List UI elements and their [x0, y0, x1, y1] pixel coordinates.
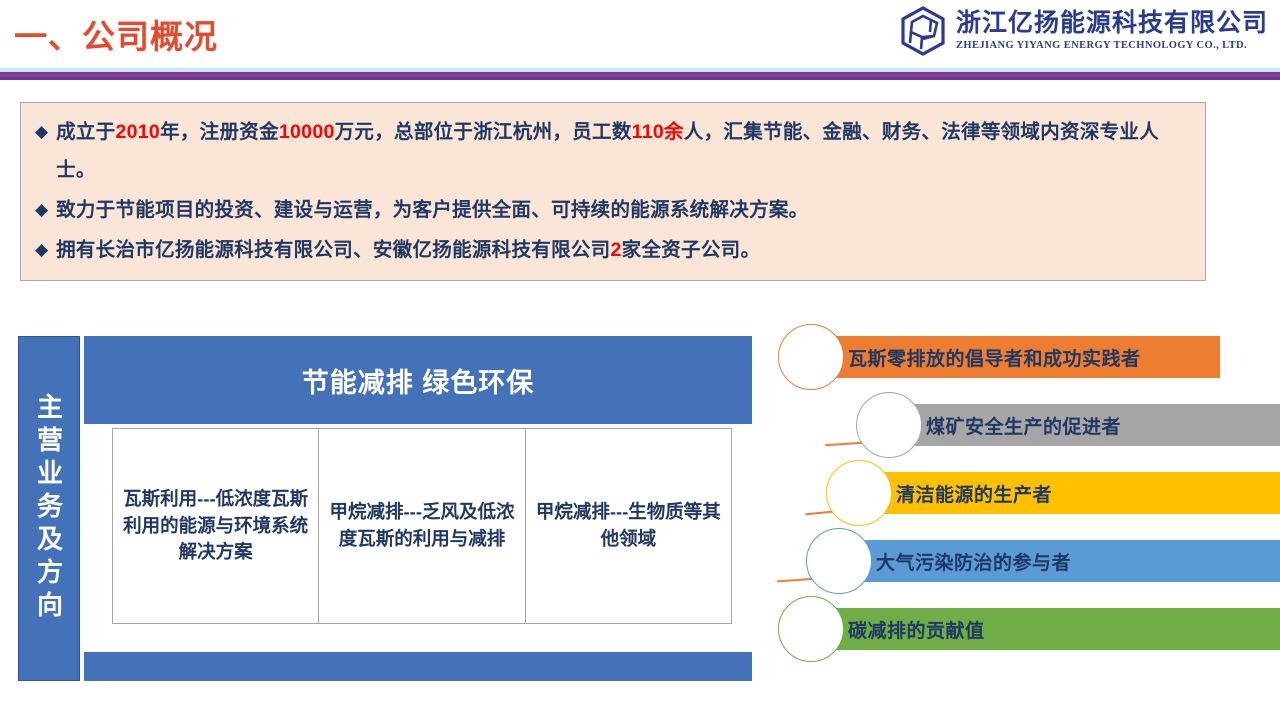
value-bar-circle-icon	[806, 528, 872, 594]
business-header-banner: 节能减排 绿色环保	[84, 336, 752, 424]
company-name-en: ZHEJIANG YIYANG ENERGY TECHNOLOGY CO., L…	[956, 41, 1268, 52]
bullet-segment: 万元，总部位于浙江杭州，员工数	[335, 121, 632, 143]
value-bar-row[interactable]: 清洁能源的生产者	[808, 472, 1280, 514]
bullet-segment: 年，注册资金	[160, 121, 279, 143]
company-name-cn: 浙江亿扬能源科技有限公司	[956, 11, 1268, 36]
diamond-bullet-icon: ◆	[35, 113, 48, 151]
hexagon-cube-logo-icon	[900, 6, 946, 56]
value-bar-circle-icon	[856, 392, 922, 458]
business-table-cell: 瓦斯利用---低浓度瓦斯利用的能源与环境系统解决方案	[113, 429, 319, 623]
diamond-bullet-icon: ◆	[35, 231, 48, 269]
overview-bullet: ◆成立于2010年，注册资金10000万元，总部位于浙江杭州，员工数110余人，…	[35, 113, 1191, 189]
highlighted-value: 110余	[632, 121, 684, 143]
slide-root: 一、公司概况 浙江亿扬能源科技有限公司 ZHEJIANG YIYANG ENER…	[0, 0, 1280, 720]
overview-bullet-text: 成立于2010年，注册资金10000万元，总部位于浙江杭州，员工数110余人，汇…	[56, 113, 1191, 189]
value-bar-label: 碳减排的贡献值	[848, 608, 985, 650]
business-main: 节能减排 绿色环保 瓦斯利用---低浓度瓦斯利用的能源与环境系统解决方案甲烷减排…	[84, 336, 752, 688]
company-overview-box: ◆成立于2010年，注册资金10000万元，总部位于浙江杭州，员工数110余人，…	[20, 102, 1206, 281]
value-bar-circle-icon	[778, 596, 844, 662]
highlighted-value: 2010	[115, 121, 160, 143]
value-bar-row[interactable]: 瓦斯零排放的倡导者和成功实践者	[760, 336, 1220, 378]
value-bar-label: 瓦斯零排放的倡导者和成功实践者	[848, 336, 1141, 378]
value-bar-label: 煤矿安全生产的促进者	[926, 404, 1121, 446]
value-bar-row[interactable]: 大气污染防治的参与者	[788, 540, 1280, 582]
highlighted-value: 10000	[279, 121, 335, 143]
business-footer-bar	[84, 652, 752, 681]
bullet-segment: 拥有长治市亿扬能源科技有限公司、安徽亿扬能源科技有限公司	[56, 239, 610, 261]
value-proposition-list: 瓦斯零排放的倡导者和成功实践者煤矿安全生产的促进者清洁能源的生产者大气污染防治的…	[760, 336, 1270, 696]
divider-line-4	[0, 77, 1280, 80]
business-table-cell: 甲烷减排---乏风及低浓度瓦斯的利用与减排	[319, 429, 525, 623]
overview-bullet: ◆拥有长治市亿扬能源科技有限公司、安徽亿扬能源科技有限公司2家全资子公司。	[35, 231, 1191, 269]
value-bar-row[interactable]: 煤矿安全生产的促进者	[838, 404, 1280, 446]
value-bar-label: 清洁能源的生产者	[896, 472, 1052, 514]
business-table-cell: 甲烷减排---生物质等其他领域	[526, 429, 731, 623]
company-logo: 浙江亿扬能源科技有限公司 ZHEJIANG YIYANG ENERGY TECH…	[900, 6, 1268, 56]
bullet-segment: 致力于节能项目的投资、建设与运营，为客户提供全面、可持续的能源系统解决方案。	[56, 199, 808, 221]
value-bar-circle-icon	[778, 324, 844, 390]
business-table: 瓦斯利用---低浓度瓦斯利用的能源与环境系统解决方案甲烷减排---乏风及低浓度瓦…	[112, 428, 732, 624]
overview-bullet-text: 致力于节能项目的投资、建设与运营，为客户提供全面、可持续的能源系统解决方案。	[56, 191, 808, 229]
overview-bullet: ◆致力于节能项目的投资、建设与运营，为客户提供全面、可持续的能源系统解决方案。	[35, 191, 1191, 229]
diamond-bullet-icon: ◆	[35, 191, 48, 229]
title-divider	[0, 68, 1280, 80]
value-bar-row[interactable]: 碳减排的贡献值	[760, 608, 1280, 650]
business-side-label: 主营业务及方向	[18, 336, 80, 681]
bullet-segment: 家全资子公司。	[622, 239, 761, 261]
bullet-segment: 成立于	[56, 121, 115, 143]
logo-text-block: 浙江亿扬能源科技有限公司 ZHEJIANG YIYANG ENERGY TECH…	[956, 11, 1268, 52]
value-bar-label: 大气污染防治的参与者	[876, 540, 1071, 582]
business-section: 主营业务及方向 节能减排 绿色环保 瓦斯利用---低浓度瓦斯利用的能源与环境系统…	[18, 336, 754, 688]
highlighted-value: 2	[610, 239, 621, 261]
value-bar-circle-icon	[826, 460, 892, 526]
overview-bullet-text: 拥有长治市亿扬能源科技有限公司、安徽亿扬能源科技有限公司2家全资子公司。	[56, 231, 760, 269]
page-title: 一、公司概况	[14, 10, 218, 58]
